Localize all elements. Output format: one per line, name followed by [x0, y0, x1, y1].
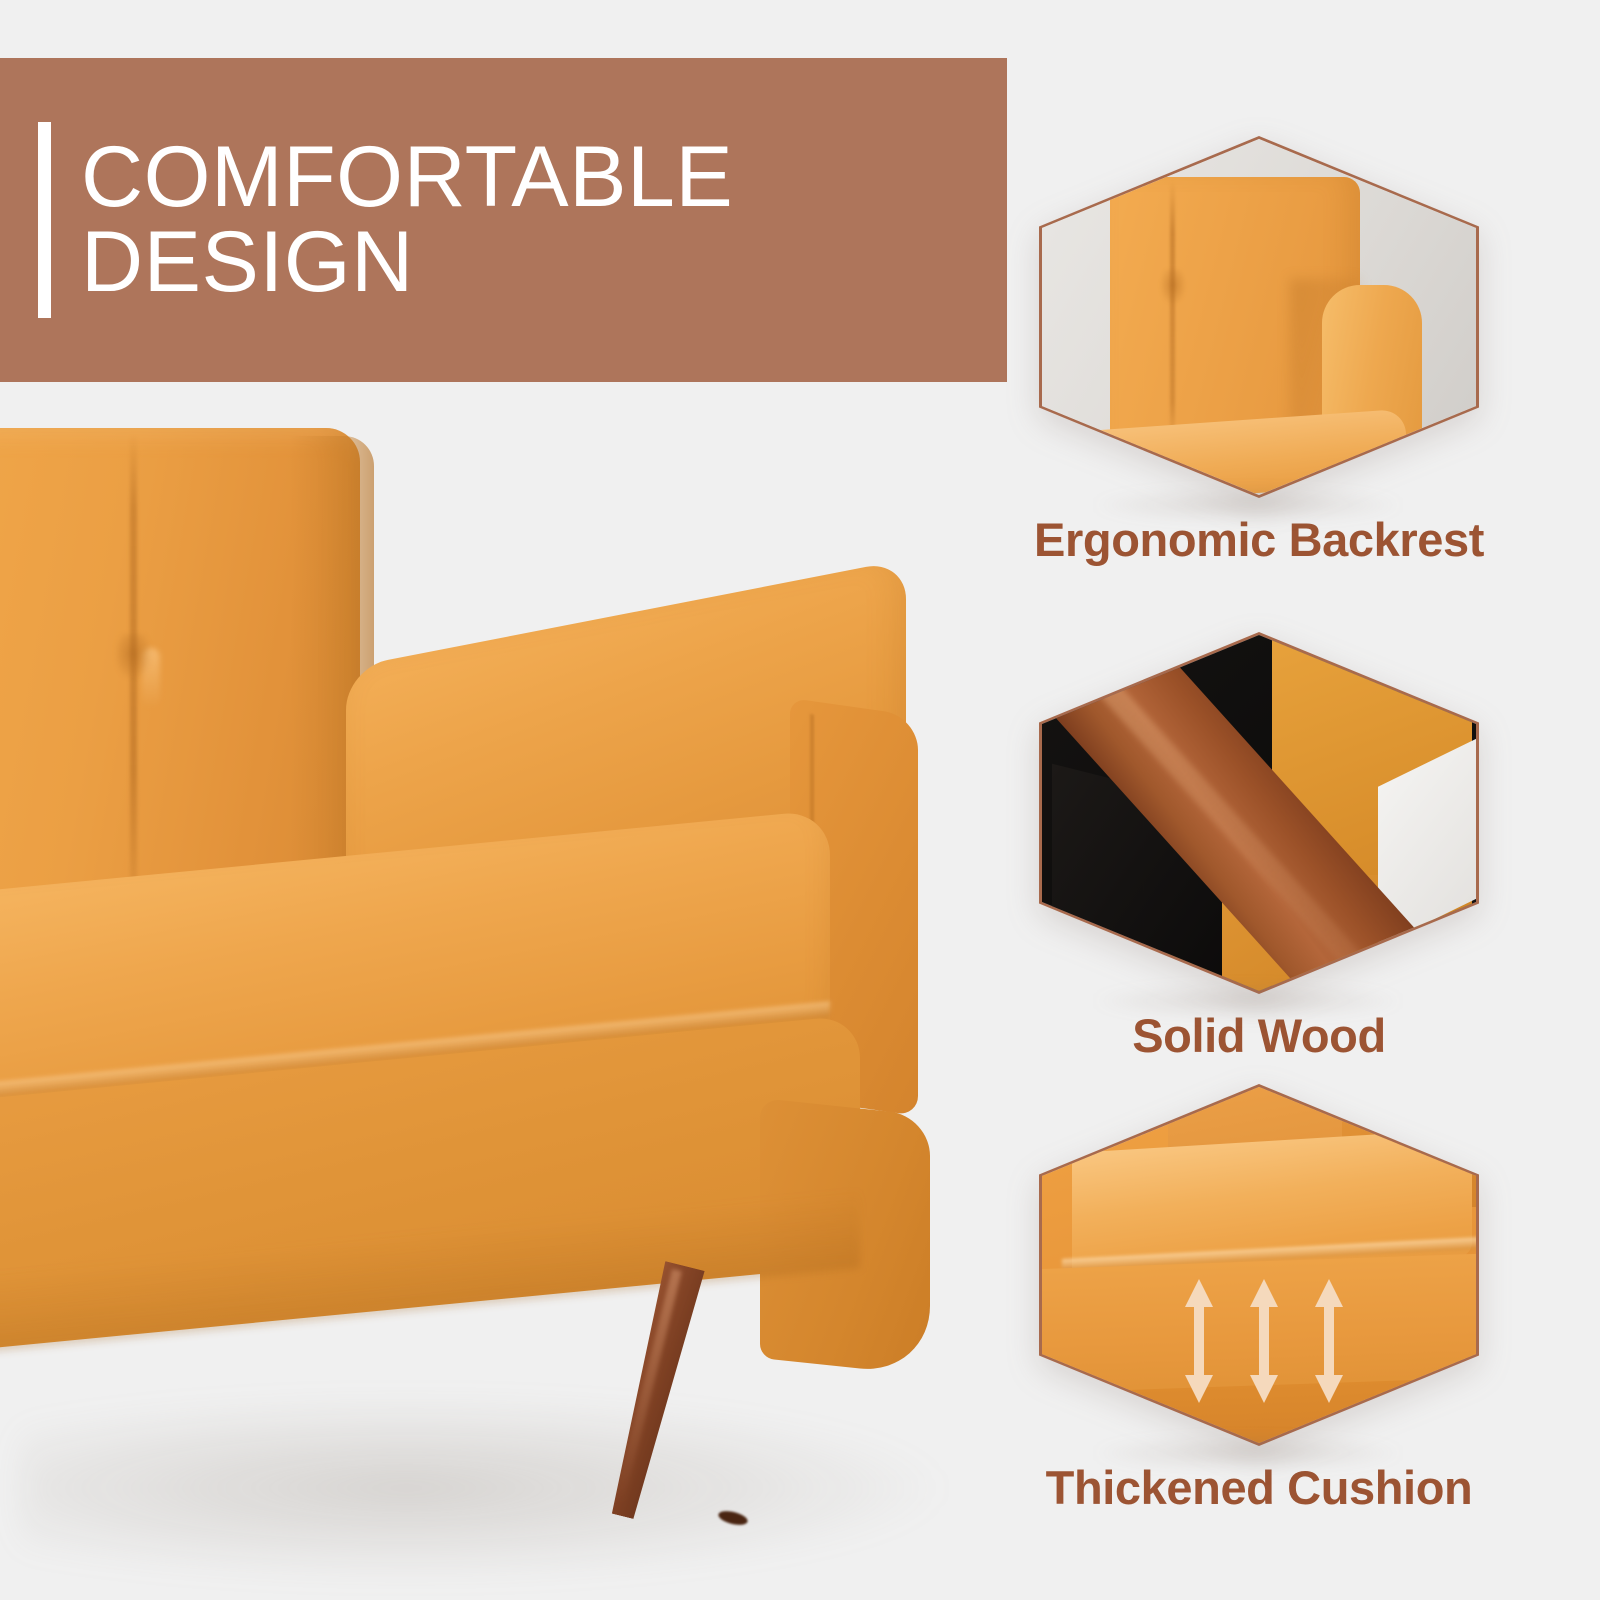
floor-shadow [20, 1398, 940, 1578]
hexagon-photo-cushion [1042, 1087, 1476, 1443]
hexagon-frame-wood [1039, 632, 1479, 994]
hexagon-photo-wood [1042, 635, 1476, 991]
feature-solid-wood: Solid Wood [1028, 632, 1490, 1063]
hexagon-frame-backrest [1039, 136, 1479, 498]
backrest-seam [1170, 181, 1175, 441]
accent-bar [38, 122, 51, 318]
backrest-tuft-button [1160, 269, 1186, 305]
header-banner: COMFORTABLE DESIGN [0, 58, 1007, 382]
feature-thickened-cushion: Thickened Cushion [1028, 1084, 1490, 1515]
up-down-arrow-icon [1312, 1277, 1346, 1405]
page-title: COMFORTABLE DESIGN [81, 135, 733, 305]
hero-sofa-image [0, 398, 1000, 1600]
hexagon-ground-shadow [1088, 1436, 1408, 1470]
hexagon-photo-backrest [1042, 139, 1476, 495]
tuft-button [116, 634, 150, 678]
hexagon-ground-shadow [1088, 984, 1408, 1018]
up-down-arrow-icon [1247, 1277, 1281, 1405]
up-down-arrow-icon [1182, 1277, 1216, 1405]
hexagon-frame-cushion [1039, 1084, 1479, 1446]
feature-ergonomic-backrest: Ergonomic Backrest [1028, 136, 1490, 567]
hexagon-ground-shadow [1088, 488, 1408, 522]
